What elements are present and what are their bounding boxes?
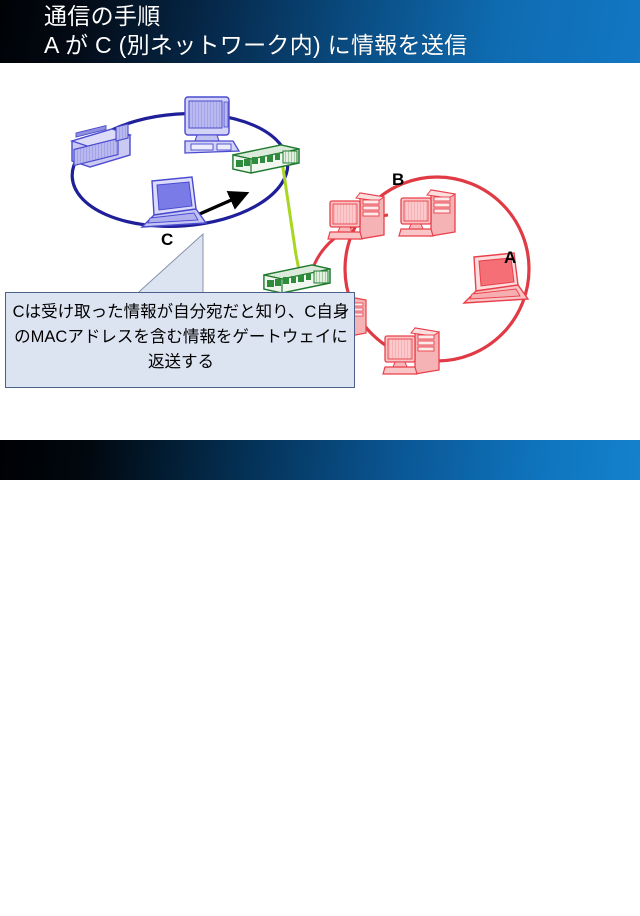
- desktop-pc-bottom-icon: [383, 328, 439, 374]
- switch-lower-icon: [264, 265, 330, 293]
- slide-footer: ITPASS Information Training program with…: [0, 440, 640, 480]
- callout-tail: [135, 232, 205, 296]
- uplink-cable: [282, 161, 300, 275]
- page-title: 通信の手順 A が C (別ネットワーク内) に情報を送信: [44, 2, 624, 60]
- slide-root: 通信の手順 A が C (別ネットワーク内) に情報を送信: [0, 0, 640, 480]
- desktop-pc-b-icon: [399, 190, 455, 236]
- label-node-a: A: [504, 249, 516, 266]
- logo-tagline-line2: with a spirit of self-help: [548, 910, 634, 916]
- itpass-logo: ITPASS Information Training program with…: [548, 886, 634, 916]
- callout-box: Cは受け取った情報が自分宛だと知り、C自身のMACアドレスを含む情報をゲートウェ…: [5, 292, 355, 388]
- printer-icon: [72, 124, 130, 167]
- slide-header: 通信の手順 A が C (別ネットワーク内) に情報を送信: [0, 0, 640, 63]
- desktop-pc-left-icon: [328, 193, 384, 239]
- callout-text: Cは受け取った情報が自分宛だと知り、C自身のMACアドレスを含む情報をゲートウェ…: [12, 300, 350, 375]
- logo-wordmark: ITPASS: [548, 886, 634, 904]
- label-node-b: B: [392, 171, 404, 188]
- laptop-a-icon: [464, 253, 528, 303]
- laptop-c-icon: [142, 177, 206, 227]
- desktop-pc-icon: [185, 97, 239, 153]
